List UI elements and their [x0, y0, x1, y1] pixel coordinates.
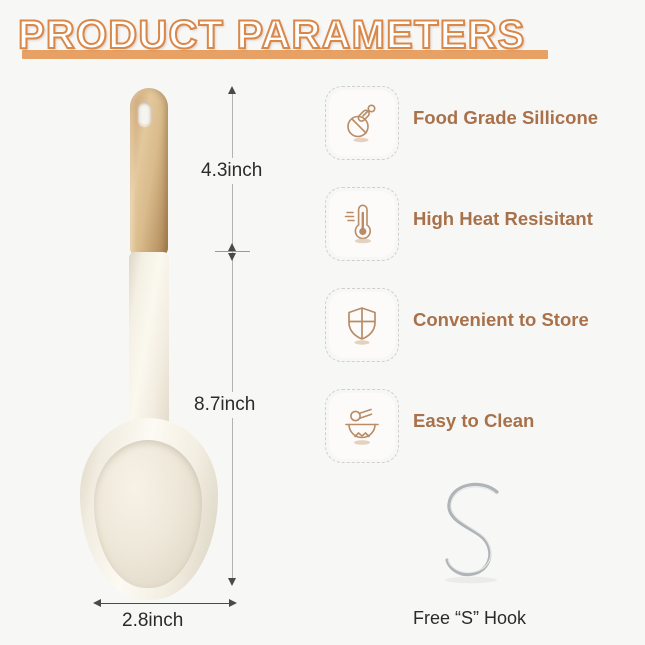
title-text: PRODUCT PARAMETERS: [18, 12, 526, 58]
feature-label: Easy to Clean: [413, 410, 534, 432]
bowl-spoon-icon: [341, 405, 383, 447]
measure-label-handle-length: 4.3inch: [197, 158, 266, 184]
horizontal-measure-line: [100, 603, 230, 604]
feature-icon-box: [325, 86, 399, 160]
feature-item-heat-resistant: High Heat Resisitant: [325, 187, 635, 288]
measure-label-bowl-width: 2.8inch: [122, 610, 183, 632]
measure-arrow-mid-down-icon: [228, 253, 236, 261]
feature-icon-box: [325, 187, 399, 261]
measure-arrow-left-icon: [93, 599, 101, 607]
page-title: PRODUCT PARAMETERS: [18, 12, 548, 64]
infographic-canvas: PRODUCT PARAMETERS 4.3inch 8.7inch 2.8in…: [0, 0, 645, 645]
s-hook-image: [425, 470, 545, 590]
measure-arrow-top-icon: [228, 86, 236, 94]
wooden-handle: [130, 88, 168, 256]
shield-icon: [342, 304, 382, 346]
s-hook-caption: Free “S” Hook: [413, 608, 526, 629]
feature-item-food-grade: Food Grade Sillicone: [325, 86, 635, 187]
measure-label-body-length: 8.7inch: [190, 392, 259, 418]
feature-item-convenient-store: Convenient to Store: [325, 288, 635, 389]
product-image-spoon: [60, 80, 220, 590]
feature-label: High Heat Resisitant: [413, 208, 593, 230]
feature-icon-box: [325, 389, 399, 463]
feature-label: Food Grade Sillicone: [413, 107, 598, 129]
feature-icon-box: [325, 288, 399, 362]
baby-bottle-icon: [342, 102, 382, 144]
measure-arrow-bottom-icon: [228, 578, 236, 586]
feature-list: Food Grade Sillicone High Heat Resisitan: [325, 86, 635, 490]
feature-label: Convenient to Store: [413, 309, 589, 331]
measure-arrow-mid-up-icon: [228, 243, 236, 251]
thermometer-icon: [342, 203, 382, 245]
measure-arrow-right-icon: [229, 599, 237, 607]
